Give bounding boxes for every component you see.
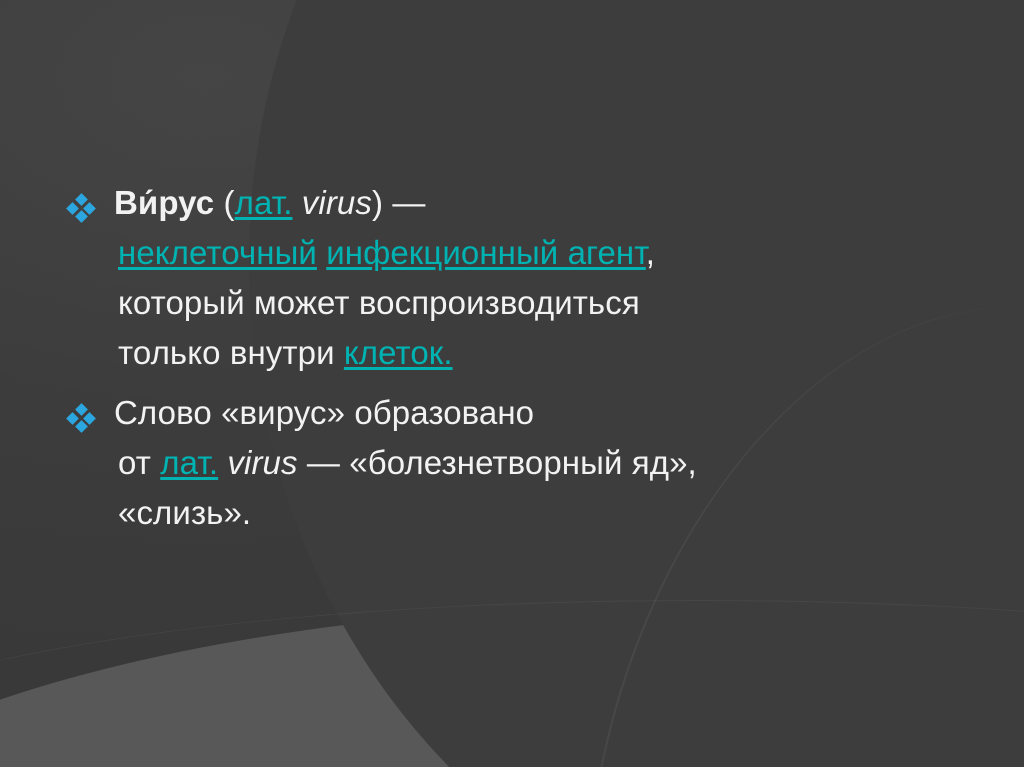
plain-text: , (646, 234, 655, 271)
bullet-text-definition: Ви́рус (лат. virus) — неклеточный инфекц… (114, 178, 922, 378)
bullet-text-etymology: Слово «вирус» образованоот лат. virus — … (114, 388, 922, 538)
slide-content: Ви́рус (лат. virus) — неклеточный инфекц… (0, 0, 1024, 767)
latin-italic-text: virus (302, 184, 372, 221)
term-bold: Ви́рус (114, 184, 214, 221)
four-diamond-bullet-icon (68, 195, 94, 221)
bullet-item-definition: Ви́рус (лат. virus) — неклеточный инфекц… (62, 178, 922, 378)
inline-link[interactable]: неклеточный (118, 234, 317, 271)
plain-text: только внутри (118, 334, 344, 371)
inline-link[interactable]: лат. (235, 184, 293, 221)
text-line: Ви́рус (лат. virus) — (114, 178, 922, 228)
text-line: неклеточный инфекционный агент, (114, 228, 922, 278)
latin-italic-text: virus (227, 444, 297, 481)
slide-body-bullet-list: Ви́рус (лат. virus) — неклеточный инфекц… (62, 178, 922, 542)
text-line: который может воспроизводиться (114, 278, 922, 328)
plain-text: — «болезнетворный яд», (298, 444, 697, 481)
plain-text (317, 234, 326, 271)
plain-text: от (118, 444, 160, 481)
plain-text: который может воспроизводиться (118, 284, 640, 321)
text-line: Слово «вирус» образовано (114, 388, 922, 438)
plain-text: ( (214, 184, 234, 221)
plain-text: Слово «вирус» образовано (114, 394, 534, 431)
four-diamond-bullet-icon (68, 405, 94, 431)
plain-text (293, 184, 302, 221)
text-line: «слизь». (114, 488, 922, 538)
inline-link[interactable]: клеток. (344, 334, 453, 371)
inline-link[interactable]: инфекционный агент (326, 234, 646, 271)
plain-text: ) — (372, 184, 425, 221)
plain-text: «слизь». (118, 494, 251, 531)
text-line: только внутри клеток. (114, 328, 922, 378)
bullet-item-etymology: Слово «вирус» образованоот лат. virus — … (62, 388, 922, 538)
text-line: от лат. virus — «болезнетворный яд», (114, 438, 922, 488)
inline-link[interactable]: лат. (160, 444, 218, 481)
presentation-slide: Ви́рус (лат. virus) — неклеточный инфекц… (0, 0, 1024, 767)
